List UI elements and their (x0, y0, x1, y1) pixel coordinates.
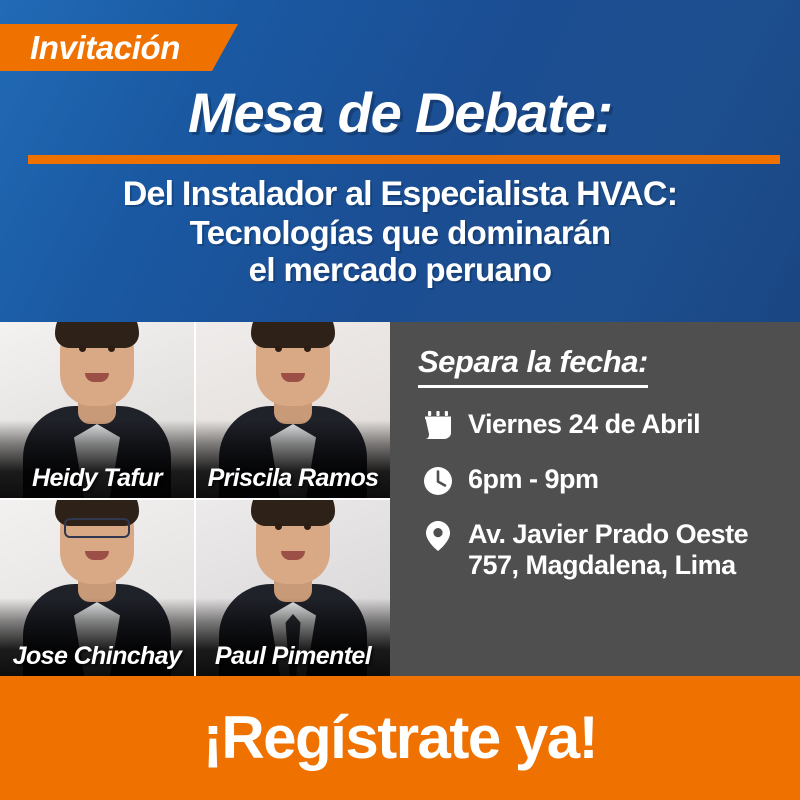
hair-top-shape (251, 322, 335, 348)
event-details-panel: Separa la fecha: Viernes 24 de Abril (390, 322, 800, 676)
speaker-name: Paul Pimentel (215, 642, 371, 671)
speaker-name: Heidy Tafur (32, 464, 162, 493)
title-divider-rule (28, 155, 780, 164)
eye-right (304, 345, 311, 352)
invitation-ribbon-label: Invitación (30, 31, 180, 64)
hair-top-shape (55, 322, 139, 348)
poster-header: Invitación Mesa de Debate: Del Instalado… (0, 0, 800, 322)
register-cta-banner[interactable]: ¡Regístrate ya! (0, 676, 800, 800)
clock-icon (418, 462, 458, 500)
invitation-ribbon: Invitación (0, 24, 238, 71)
eye-right (304, 523, 311, 530)
poster-subtitle: Del Instalador al Especialista HVAC: Tec… (0, 175, 800, 289)
subtitle-line-2: Tecnologías que dominarán (0, 214, 800, 252)
event-date-text: Viernes 24 de Abril (468, 407, 700, 440)
speaker-photo-jose-chinchay: Jose Chinchay (0, 500, 194, 676)
speaker-name: Jose Chinchay (13, 642, 182, 671)
register-cta-label: ¡Regístrate ya! (203, 708, 597, 768)
speaker-photo-paul-pimentel: Paul Pimentel (196, 500, 390, 676)
speaker-name-plate: Paul Pimentel (196, 598, 390, 676)
event-location-text: Av. Javier Prado Oeste 757, Magdalena, L… (468, 517, 786, 581)
speaker-name-plate: Heidy Tafur (0, 420, 194, 498)
poster-middle-band: Heidy Tafur Priscila Ramos (0, 322, 800, 676)
eye-left (275, 523, 282, 530)
speaker-photo-priscila-ramos: Priscila Ramos (196, 322, 390, 498)
event-invitation-poster: Invitación Mesa de Debate: Del Instalado… (0, 0, 800, 800)
detail-row-time: 6pm - 9pm (418, 462, 786, 500)
subtitle-line-3: el mercado peruano (0, 251, 800, 289)
hair-top-shape (251, 500, 335, 526)
eye-right (108, 345, 115, 352)
location-pin-icon (418, 517, 458, 555)
speaker-name-plate: Jose Chinchay (0, 598, 194, 676)
calendar-icon (418, 407, 458, 445)
speaker-photo-heidy-tafur: Heidy Tafur (0, 322, 194, 498)
detail-row-location: Av. Javier Prado Oeste 757, Magdalena, L… (418, 517, 786, 581)
page-title: Mesa de Debate: (0, 84, 800, 143)
details-heading: Separa la fecha: (418, 344, 648, 388)
detail-row-date: Viernes 24 de Abril (418, 407, 786, 445)
subtitle-line-1: Del Instalador al Especialista HVAC: (0, 175, 800, 214)
speaker-name: Priscila Ramos (208, 464, 379, 493)
event-time-text: 6pm - 9pm (468, 462, 599, 495)
eye-left (79, 345, 86, 352)
eye-left (275, 345, 282, 352)
speaker-name-plate: Priscila Ramos (196, 420, 390, 498)
eyeglasses-shape (64, 518, 130, 538)
speaker-photo-grid: Heidy Tafur Priscila Ramos (0, 322, 390, 676)
